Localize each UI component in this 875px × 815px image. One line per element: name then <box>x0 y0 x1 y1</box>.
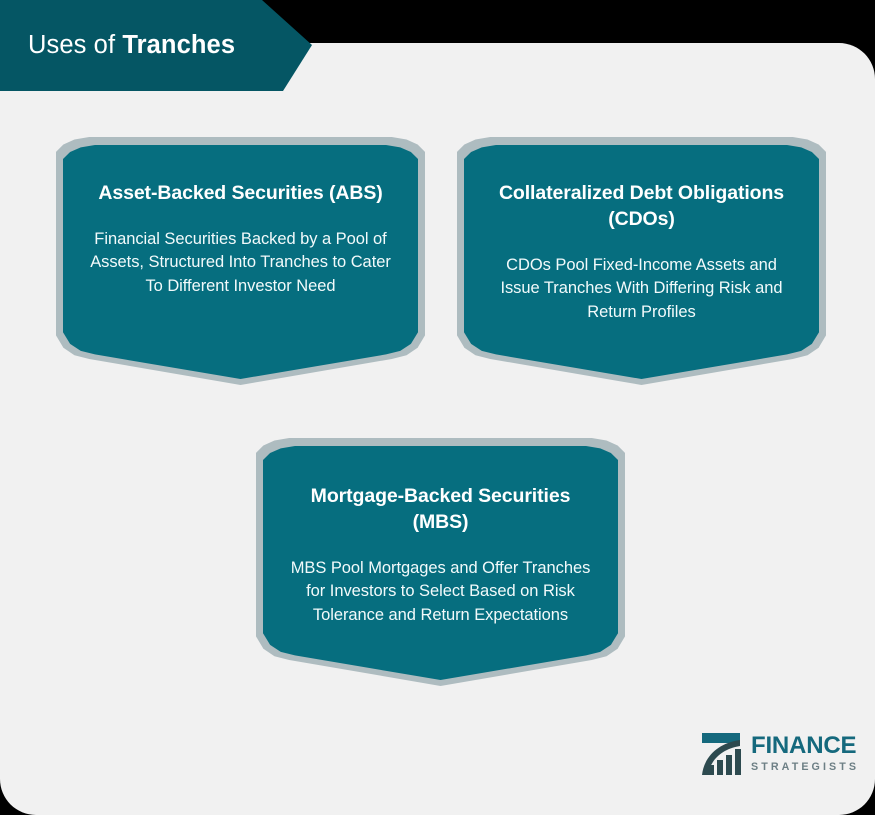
card-body: Financial Securities Backed by a Pool of… <box>89 228 392 298</box>
page-title-regular: Uses of <box>28 31 115 59</box>
bar-chart-swoosh-icon <box>702 731 744 775</box>
card-content: Asset-Backed Securities (ABS) Financial … <box>63 145 418 379</box>
card-body: MBS Pool Mortgages and Offer Tranches fo… <box>289 557 592 627</box>
card-title: Asset-Backed Securities (ABS) <box>89 181 392 207</box>
card-collateralized-debt-obligations[interactable]: Collateralized Debt Obligations (CDOs) C… <box>457 137 826 385</box>
page-title-bold: Tranches <box>122 31 235 59</box>
card-title: Mortgage-Backed Securities (MBS) <box>289 484 592 536</box>
card-content: Mortgage-Backed Securities (MBS) MBS Poo… <box>263 446 618 680</box>
card-title: Collateralized Debt Obligations (CDOs) <box>490 181 793 233</box>
logo-wordmark: FINANCE STRATEGISTS <box>751 731 859 773</box>
logo-word-strategists: STRATEGISTS <box>751 762 859 773</box>
card-body: CDOs Pool Fixed-Income Assets and Issue … <box>490 254 793 324</box>
finance-strategists-logo: FINANCE STRATEGISTS <box>702 731 847 779</box>
card-mortgage-backed-securities[interactable]: Mortgage-Backed Securities (MBS) MBS Poo… <box>256 438 625 686</box>
logo-word-finance: FINANCE <box>751 734 859 758</box>
header-banner: Uses of Tranches <box>0 0 312 91</box>
card-content: Collateralized Debt Obligations (CDOs) C… <box>464 145 819 379</box>
card-asset-backed-securities[interactable]: Asset-Backed Securities (ABS) Financial … <box>56 137 425 385</box>
infographic-page: Uses of Tranches Asset-Backed Securities… <box>0 0 875 815</box>
page-title: Uses of Tranches <box>0 33 235 59</box>
